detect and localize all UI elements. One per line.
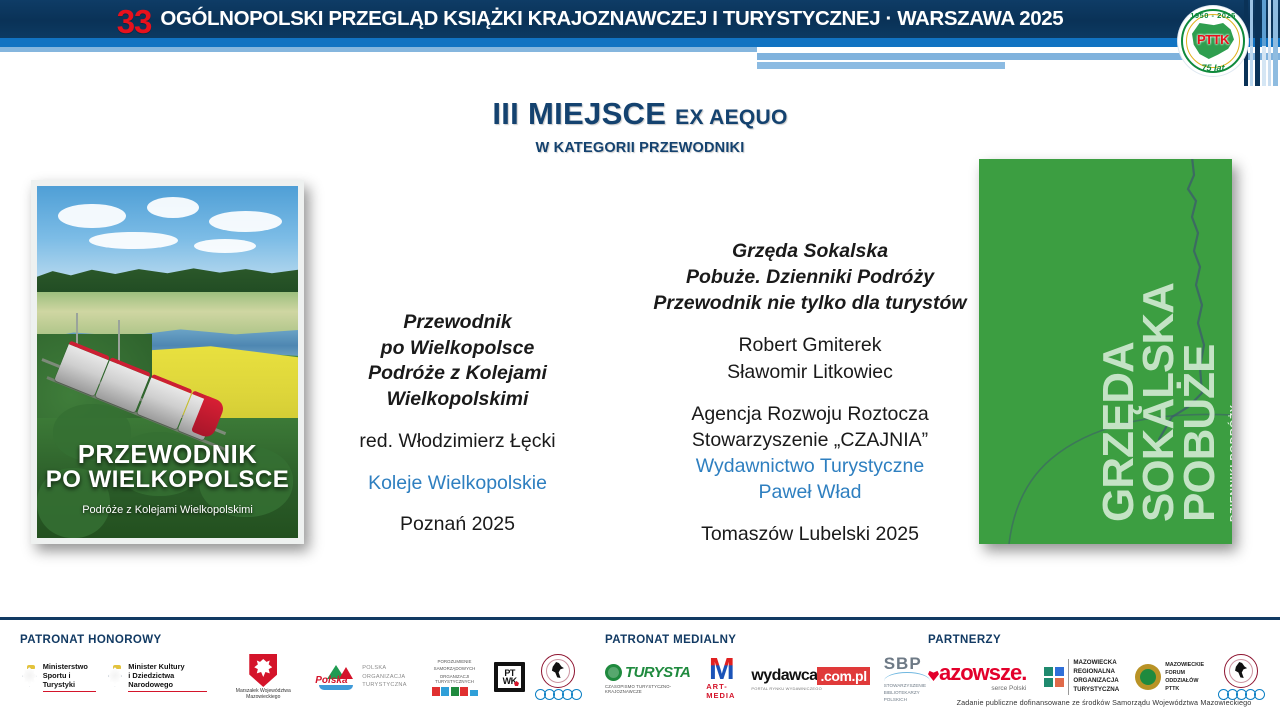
pttk-years: 1950 - 2025 [1178,11,1248,20]
book1-cover-photo: PRZEWODNIK PO WIELKOPOLSCE Podróże z Kol… [37,186,298,538]
entry-2-publisher-1: Agencja Rozwoju Roztocza [630,401,990,427]
entry-2-title-line-1: Grzęda Sokalska [630,238,990,264]
ptwk-text: PT WK [494,662,525,692]
honorary-logo-row: Ministerstwo Sportu i Turystyki Minister… [20,654,580,700]
award-category: W KATEGORII PRZEWODNIKI [0,140,1280,156]
sport-emblem-icon [1224,654,1258,688]
header-lightblue-band-right-2 [757,62,1005,69]
award-place-line: III MIEJSCE EX AEQUO [0,96,1280,132]
mrot-line4: TURYSTYCZNA [1073,686,1119,693]
media-logo-row: TURYSTA CZASOPISMO TURYSTYCZNO-KRAJOZNAW… [605,654,905,704]
entry-2-place-year: Tomaszów Lubelski 2025 [630,521,990,547]
entry-1-title-line-1: Przewodnik [330,310,585,336]
logo-ministerstwo-sportu-i-turystyki: Ministerstwo Sportu i Turystyki [20,662,96,693]
entry-2-title-line-2: Pobuże. Dzienniki Podróży [630,264,990,290]
turysta-sub: CZASOPISMO TURYSTYCZNO-KRAJOZNAWCZE [605,684,690,694]
footer-section-honorary: PATRONAT HONOROWY Ministerstwo Sportu i … [20,634,580,700]
logo-pko-partners [1218,654,1263,700]
edition-number: 33 [117,5,152,38]
footer-section-partners: PARTNERZY azowsze. serce Polski MAZOWIEC… [928,634,1268,700]
entry-2-author-1: Robert Gmiterek [630,332,990,358]
logo-turysta: TURYSTA CZASOPISMO TURYSTYCZNO-KRAJOZNAW… [605,664,690,694]
mazowsze-text: azowsze. [939,660,1026,685]
entry-2-title-line-3: Przewodnik nie tylko dla turystów [630,290,990,316]
book1-cover-title-line2: PO WIELKOPOLSCE [37,468,298,492]
pot-line2: ORGANIZACJA [362,674,405,680]
book1-cover-title-line1: PRZEWODNIK [37,442,298,468]
logo-polski-komitet-olimpijski [535,654,580,700]
turysta-emblem-icon [605,664,622,681]
page-header: 33 OGÓLNOPOLSKI PRZEGLĄD KSIĄŻKI KRAJOZN… [0,0,1280,78]
footer-section-media: PATRONAT MEDIALNY TURYSTA CZASOPISMO TUR… [605,634,905,704]
mfo-line3: ODDZIAŁÓW [1165,678,1198,684]
entry-1-details: Przewodnik po Wielkopolsce Podróże z Kol… [330,310,585,538]
mazowsze-sub: serce Polski [991,685,1026,692]
mfo-line4: PTTK [1165,686,1179,692]
marszalek-caption: Marszałek Województwa Mazowieckiego [231,689,295,700]
logo-wydawca: wydawca .com.pl PORTAL RYNKU WYDAWNICZEG… [751,667,869,691]
book2-cover-subtitle-group: DZIENNIKI PODRÓŻY PRZEWODNIK NIE TYLKO D… [979,159,1232,544]
mfo-text: MAZOWIECKIE FORUM ODDZIAŁÓW PTTK [1165,661,1204,693]
ministry-sport-text: Ministerstwo Sportu i Turystyki [43,662,96,693]
event-title: OGÓLNOPOLSKI PRZEGLĄD KSIĄŻKI KRAJOZNAWC… [160,7,1063,31]
entry-2-publisher-3: Wydawnictwo Turystyczne [630,453,990,479]
header-blue-band [0,38,1280,47]
ministry-sport-line1: Ministerstwo [43,662,88,671]
eagle-icon [20,665,39,689]
honorary-heading: PATRONAT HONOROWY [20,634,580,646]
pot-line3: TURYSTYCZNA [362,682,407,688]
ministry-sport-line2: Sportu i Turystyki [43,671,75,689]
turysta-word: TURYSTA [625,664,690,681]
logo-sbp: SBP STOWARZYSZENIE BIBLIOTEKARZY POLSKIC… [884,654,930,704]
mfo-line2: FORUM [1165,670,1185,676]
entry-1-title-line-2: po Wielkopolsce [330,336,585,362]
logo-mrot: MAZOWIECKA REGIONALNA ORGANIZACJA TURYST… [1044,659,1119,695]
logo-art-media: M ART-MEDIA [706,657,735,700]
sbp-acronym: SBP [884,654,922,674]
partners-heading: PARTNERZY [928,634,1268,646]
logo-mazowsze: azowsze. serce Polski [928,662,1026,692]
mrot-grid-icon [1044,667,1064,687]
media-heading: PATRONAT MEDIALNY [605,634,905,646]
award-title-block: III MIEJSCE EX AEQUO W KATEGORII PRZEWOD… [0,96,1280,156]
mrot-line1: MAZOWIECKA [1073,659,1116,666]
entry-2-publisher-4: Paweł Wład [630,479,990,505]
entry-2-author-2: Sławomir Litkowiec [630,359,990,385]
pot-text: POLSKA ORGANIZACJA TURYSTYCZNA [362,664,407,689]
pttk-anniversary: 75 lat [1178,63,1248,73]
award-ex-aequo: EX AEQUO [675,106,787,129]
ministry-culture-line1: Minister Kultury [128,662,184,671]
psot-line3: ORGANIZACJI TURYSTYCZNYCH [425,674,484,685]
award-place: III MIEJSCE [492,96,666,131]
logo-ptwk: PT WK [494,662,525,692]
entry-1-title-line-3: Podróże z Kolejami [330,361,585,387]
logo-marszalek-mazowieckie: Marszałek Województwa Mazowieckiego [231,654,295,700]
mrot-line2: REGIONALNA [1073,668,1115,675]
partners-logo-row: azowsze. serce Polski MAZOWIECKA REGIONA… [928,654,1268,700]
mazovia-shield-icon [249,654,277,687]
mfo-line1: MAZOWIECKIE [1165,662,1204,668]
mazowsze-word: azowsze. [928,662,1026,684]
psot-line2: SAMORZĄDOWYCH [434,666,476,672]
pot-line1: POLSKA [362,665,386,671]
olympic-rings-icon [535,689,580,700]
sbp-sub: STOWARZYSZENIE BIBLIOTEKARZY POLSKICH [884,683,930,704]
pttk-logo-icon: 1950 - 2025 PTTK 75 lat [1178,6,1248,76]
sbp-arc-icon [884,672,930,681]
logo-minister-kultury: Minister Kultury i Dziedzictwa Narodoweg… [106,662,208,693]
entry-2-publisher-2: Stowarzyszenie „CZAJNIA” [630,427,990,453]
book1-cover-subtitle: Podróże z Kolejami Wielkopolskimi [37,504,298,516]
entry-1-publisher: Koleje Wielkopolskie [330,471,585,497]
ministry-culture-text: Minister Kultury i Dziedzictwa Narodoweg… [128,662,207,693]
psot-blocks-icon [432,687,478,696]
entry-1-title-line-4: Wielkopolskimi [330,387,585,413]
wydawca-sub: PORTAL RYNKU WYDAWNICZEGO [751,686,822,691]
heart-icon [928,670,939,681]
entry-2-details: Grzęda Sokalska Pobuże. Dzienniki Podróż… [630,238,990,547]
wydawca-domain: .com.pl [817,667,869,685]
pttk-monogram: PTTK [1178,32,1248,47]
page-footer: PATRONAT HONOROWY Ministerstwo Sportu i … [0,620,1280,720]
book-cover-grzeda-sokalska: GRZĘDA SOKALSKA POBUŻE DZIENNIKI PODRÓŻY… [979,159,1232,544]
book-cover-przewodnik-po-wielkopolsce: PRZEWODNIK PO WIELKOPOLSCE Podróże z Kol… [31,180,304,544]
logo-mazowieckie-forum-pttk: MAZOWIECKIE FORUM ODDZIAŁÓW PTTK [1135,661,1204,693]
book1-cover-title: PRZEWODNIK PO WIELKOPOLSCE [37,442,298,492]
artmedia-sub: ART-MEDIA [706,682,735,700]
funding-note: Zadanie publiczne dofinansowane ze środk… [928,698,1280,707]
polska-mark-icon: Polska [315,664,357,690]
logo-polska-organizacja-turystyczna: Polska POLSKA ORGANIZACJA TURYSTYCZNA [315,664,407,690]
sport-emblem-icon [541,654,575,688]
entry-1-place-year: Poznań 2025 [330,512,585,538]
wydawca-word: wydawca [751,667,817,685]
eagle-icon [106,665,125,689]
mrot-text: MAZOWIECKA REGIONALNA ORGANIZACJA TURYST… [1068,659,1119,695]
mrot-line3: ORGANIZACJA [1073,677,1118,684]
logo-porozumienie-samorzadowych: POROZUMIENIE SAMORZĄDOWYCH ORGANIZACJI T… [425,659,484,696]
header-lightblue-band-left [0,47,757,52]
artmedia-letter: M [709,657,733,681]
polska-word: Polska [315,675,347,686]
entry-1-author: red. Włodzimierz Łęcki [330,429,585,455]
header-title-group: 33 OGÓLNOPOLSKI PRZEGLĄD KSIĄŻKI KRAJOZN… [0,0,1180,38]
mfo-badge-icon [1135,664,1161,690]
ministry-culture-line2: i Dziedzictwa Narodowego [128,671,174,689]
book2-sub-line-1: DZIENNIKI PODRÓŻY [1226,392,1232,522]
psot-line1: POROZUMIENIE [438,659,472,665]
